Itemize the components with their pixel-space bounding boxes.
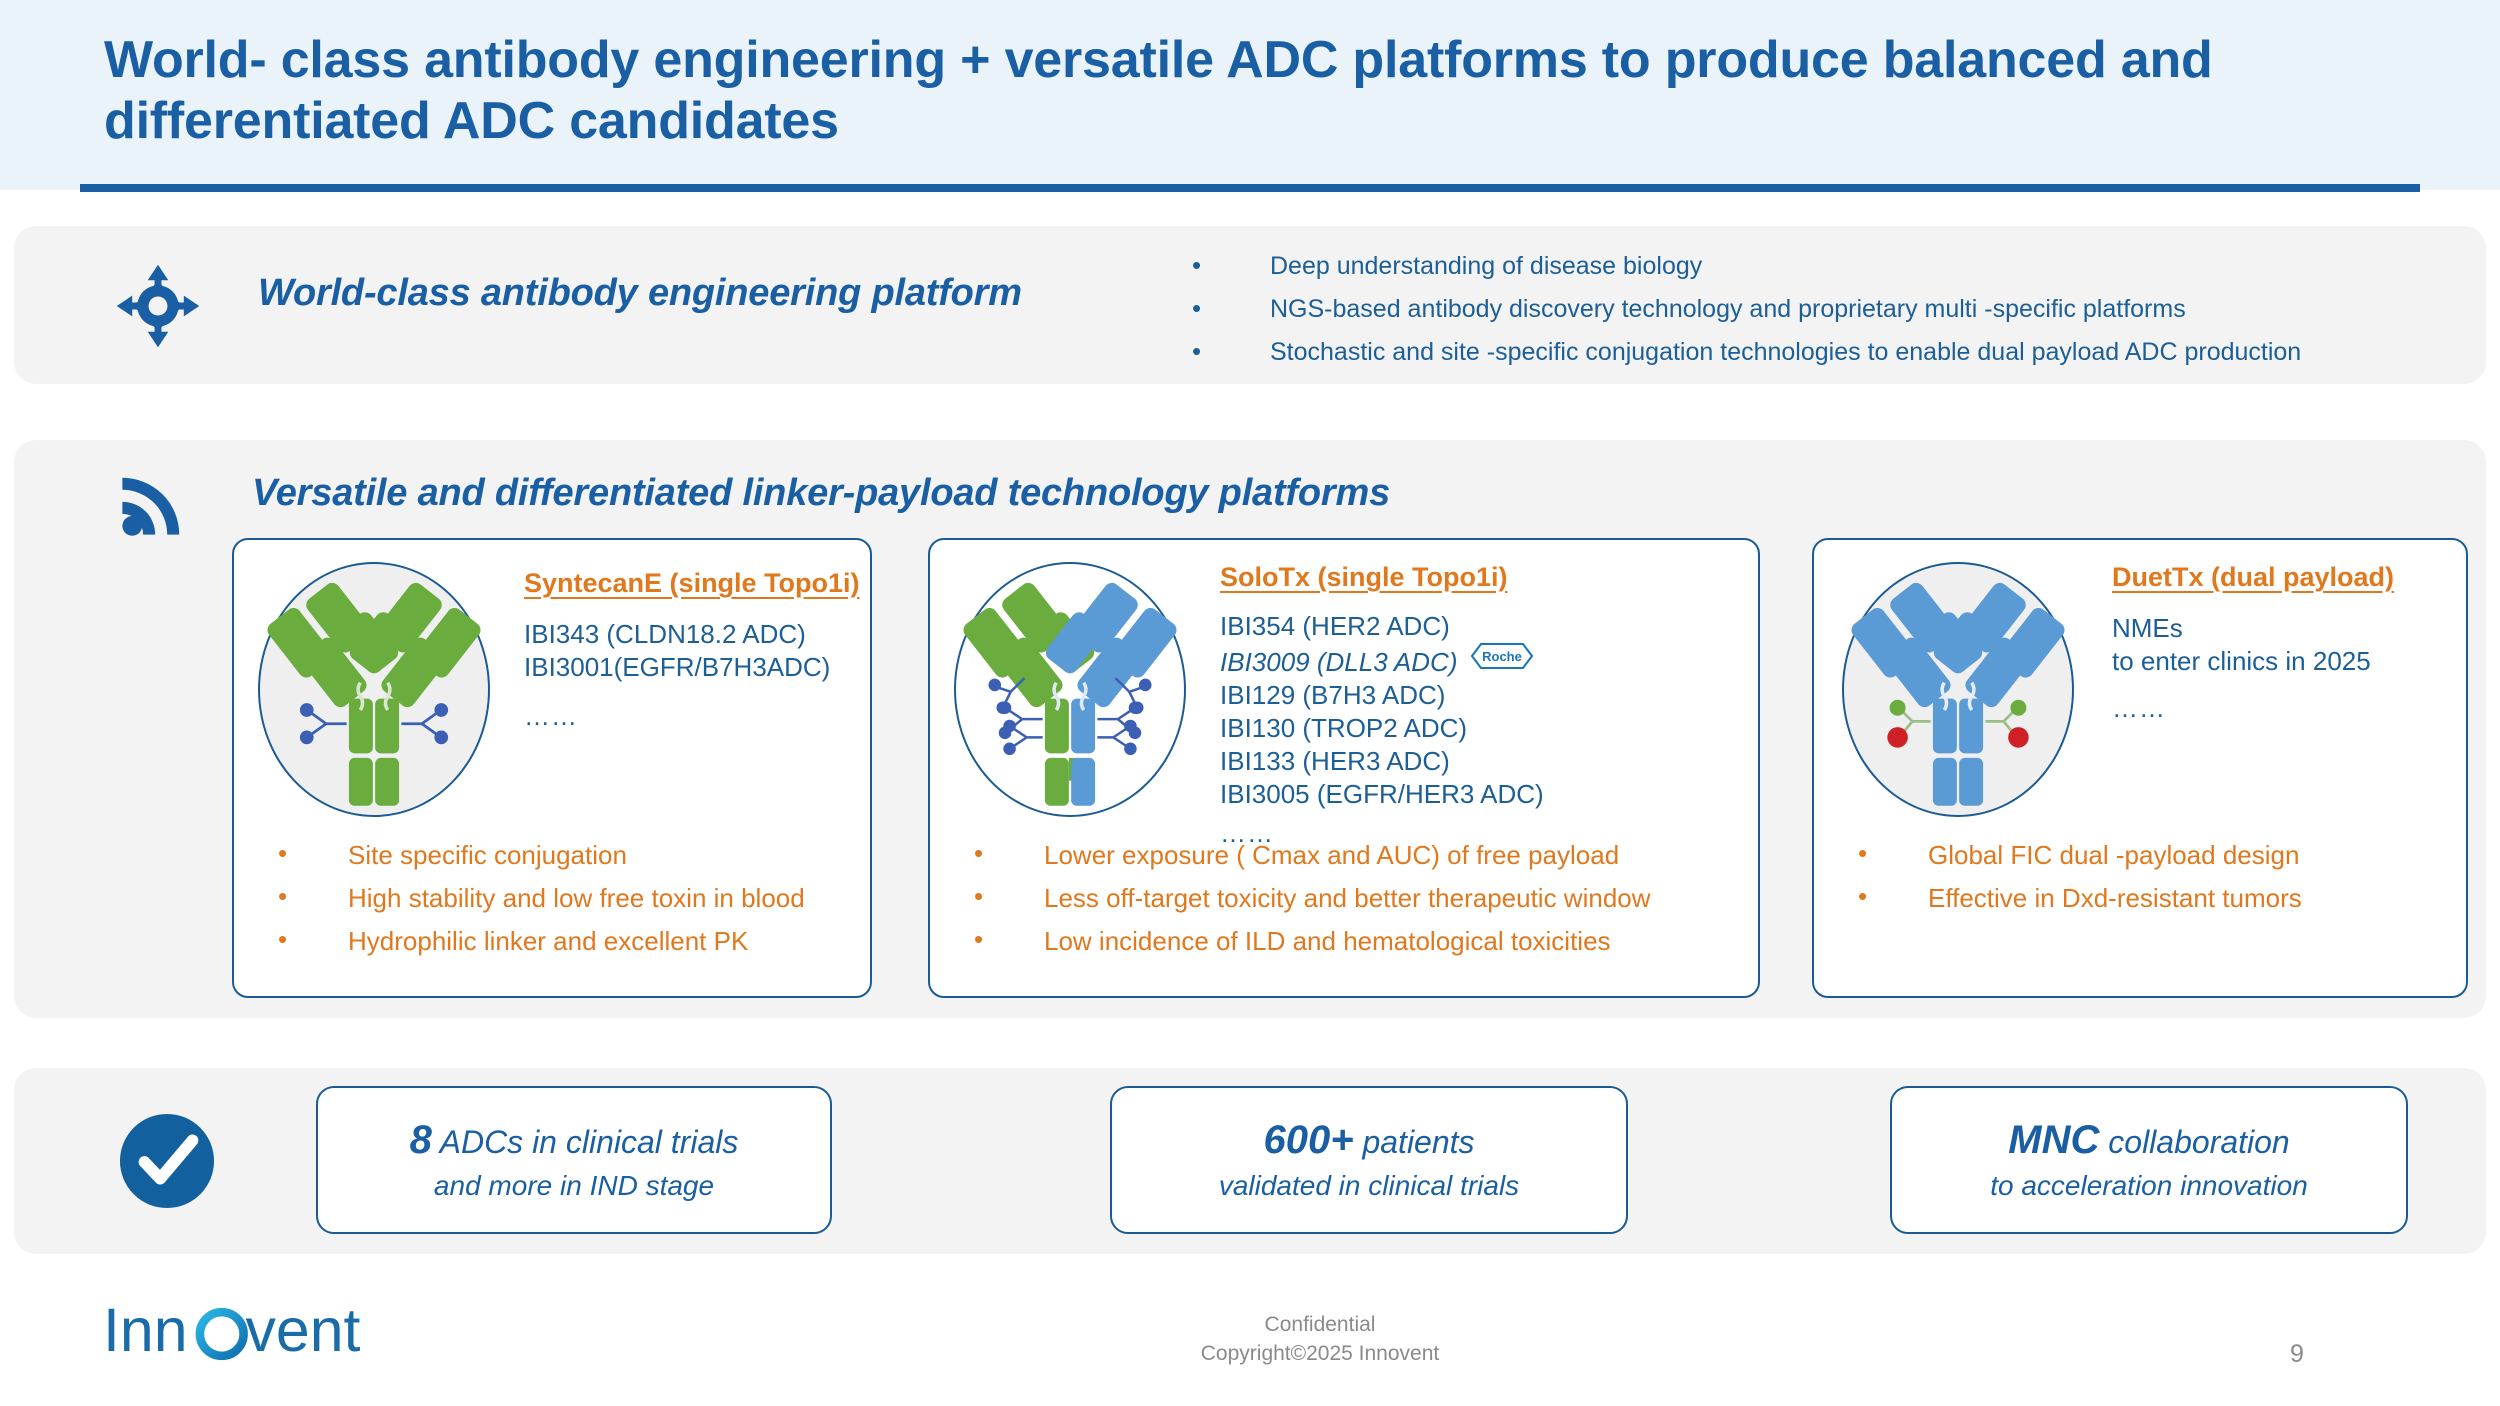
antibody-green-icon-frame (258, 562, 490, 817)
stat-card-adcs: 8 ADCs in clinical trials and more in IN… (316, 1086, 832, 1234)
stat-rest: in clinical trials (523, 1124, 738, 1160)
platform-card-solotx[interactable]: SoloTx (single Topo1i) IBI354 (HER2 ADC)… (928, 538, 1760, 998)
antibody-blue-dual-icon-frame (1842, 562, 2074, 817)
list-item: IBI3001(EGFR/B7H3ADC) (524, 651, 830, 684)
move-arrows-icon (112, 263, 204, 349)
linker-payload-heading: Versatile and differentiated linker-payl… (252, 472, 1390, 515)
stat-rest: patients (1354, 1124, 1475, 1160)
card-title: SoloTx (single Topo1i) (1220, 562, 1508, 593)
stat-card-patients: 600+ patients validated in clinical tria… (1110, 1086, 1628, 1234)
page-number: 9 (2290, 1340, 2304, 1369)
footer-note: Confidential Copyright©2025 Innovent (1110, 1310, 1530, 1368)
list-item: IBI354 (HER2 ADC) (1220, 610, 1544, 643)
antibody-green-blue-icon (956, 564, 1184, 815)
card-pipeline-list: IBI343 (CLDN18.2 ADC) IBI3001(EGFR/B7H3A… (524, 618, 830, 733)
antibody-green-icon (260, 564, 488, 815)
card-title: SyntecanE (single Topo1i) (524, 568, 860, 599)
antibody-blue-dual-icon (1844, 564, 2072, 815)
card-title: DuetTx (dual payload) (2112, 562, 2394, 593)
rss-signal-icon (118, 468, 188, 540)
card-pipeline-list: IBI354 (HER2 ADC) IBI3009 (DLL3 ADC) Roc… (1220, 610, 1544, 850)
antibody-green-blue-icon-frame (954, 562, 1186, 817)
list-item: Effective in Dxd-resistant tumors (1858, 877, 2302, 920)
stat-secondary: and more in IND stage (434, 1170, 714, 1202)
list-item: Hydrophilic linker and excellent PK (278, 920, 805, 963)
roche-partner-badge: Roche (1471, 643, 1533, 669)
list-item: IBI130 (TROP2 ADC) (1220, 712, 1544, 745)
stat-card-mnc: MNC collaboration to acceleration innova… (1890, 1086, 2408, 1234)
stat-primary: 600+ patients (1263, 1118, 1474, 1163)
list-item: Lower exposure ( Cmax and AUC) of free p… (974, 834, 1651, 877)
list-item: Less off-target toxicity and better ther… (974, 877, 1651, 920)
svg-text:Roche: Roche (1482, 649, 1522, 664)
antibody-platform-heading: World-class antibody engineering platfor… (258, 272, 1022, 315)
platform-card-syntecane[interactable]: SyntecanE (single Topo1i) IBI343 (CLDN18… (232, 538, 872, 998)
list-item: to enter clinics in 2025 (2112, 645, 2371, 678)
stat-highlight: 8 (410, 1118, 432, 1162)
stat-secondary: validated in clinical trials (1219, 1170, 1519, 1202)
list-item: High stability and low free toxin in blo… (278, 877, 805, 920)
card-features: Site specific conjugation High stability… (278, 834, 805, 963)
card-features: Global FIC dual -payload design Effectiv… (1858, 834, 2302, 920)
svg-text:vent: vent (246, 1296, 361, 1364)
stat-primary: 8 ADCs in clinical trials (410, 1118, 739, 1163)
list-item: IBI343 (CLDN18.2 ADC) (524, 618, 830, 651)
list-item: Low incidence of ILD and hematological t… (974, 920, 1651, 963)
confidential-label: Confidential (1110, 1310, 1530, 1339)
stat-highlight: MNC (2008, 1118, 2099, 1162)
innovent-logo: Inn vent (96, 1296, 452, 1372)
stat-rest: collaboration (2099, 1124, 2289, 1160)
stat-primary: MNC collaboration (2008, 1118, 2289, 1163)
stat-lead: ADCs (432, 1124, 523, 1160)
antibody-platform-bullets: Deep understanding of disease biology NG… (1192, 245, 2482, 374)
stat-secondary: to acceleration innovation (1990, 1170, 2308, 1202)
slide-root: World- class antibody engineering + vers… (0, 0, 2500, 1406)
list-item: Deep understanding of disease biology (1192, 245, 2482, 288)
copyright-label: Copyright©2025 Innovent (1110, 1339, 1530, 1368)
ellipsis: …… (524, 700, 830, 733)
platform-card-duettx[interactable]: DuetTx (dual payload) NMEs to enter clin… (1812, 538, 2468, 998)
list-item: NGS-based antibody discovery technology … (1192, 288, 2482, 331)
card-pipeline-list: NMEs to enter clinics in 2025 …… (2112, 612, 2371, 725)
list-item: Global FIC dual -payload design (1858, 834, 2302, 877)
list-item: Site specific conjugation (278, 834, 805, 877)
check-circle-icon (118, 1112, 216, 1210)
svg-text:Inn: Inn (103, 1296, 188, 1364)
list-item: IBI129 (B7H3 ADC) (1220, 679, 1544, 712)
list-item: Stochastic and site -specific conjugatio… (1192, 331, 2482, 374)
list-item-with-badge: IBI3009 (DLL3 ADC) Roche (1220, 643, 1544, 679)
card-features: Lower exposure ( Cmax and AUC) of free p… (974, 834, 1651, 963)
ellipsis: …… (2112, 692, 2371, 725)
list-item-label: IBI3009 (DLL3 ADC) (1220, 647, 1457, 677)
list-item: IBI133 (HER3 ADC) (1220, 745, 1544, 778)
title-divider (80, 184, 2420, 192)
stat-highlight: 600+ (1263, 1118, 1353, 1162)
list-item: IBI3005 (EGFR/HER3 ADC) (1220, 778, 1544, 811)
page-title: World- class antibody engineering + vers… (104, 30, 2404, 152)
list-item: NMEs (2112, 612, 2371, 645)
